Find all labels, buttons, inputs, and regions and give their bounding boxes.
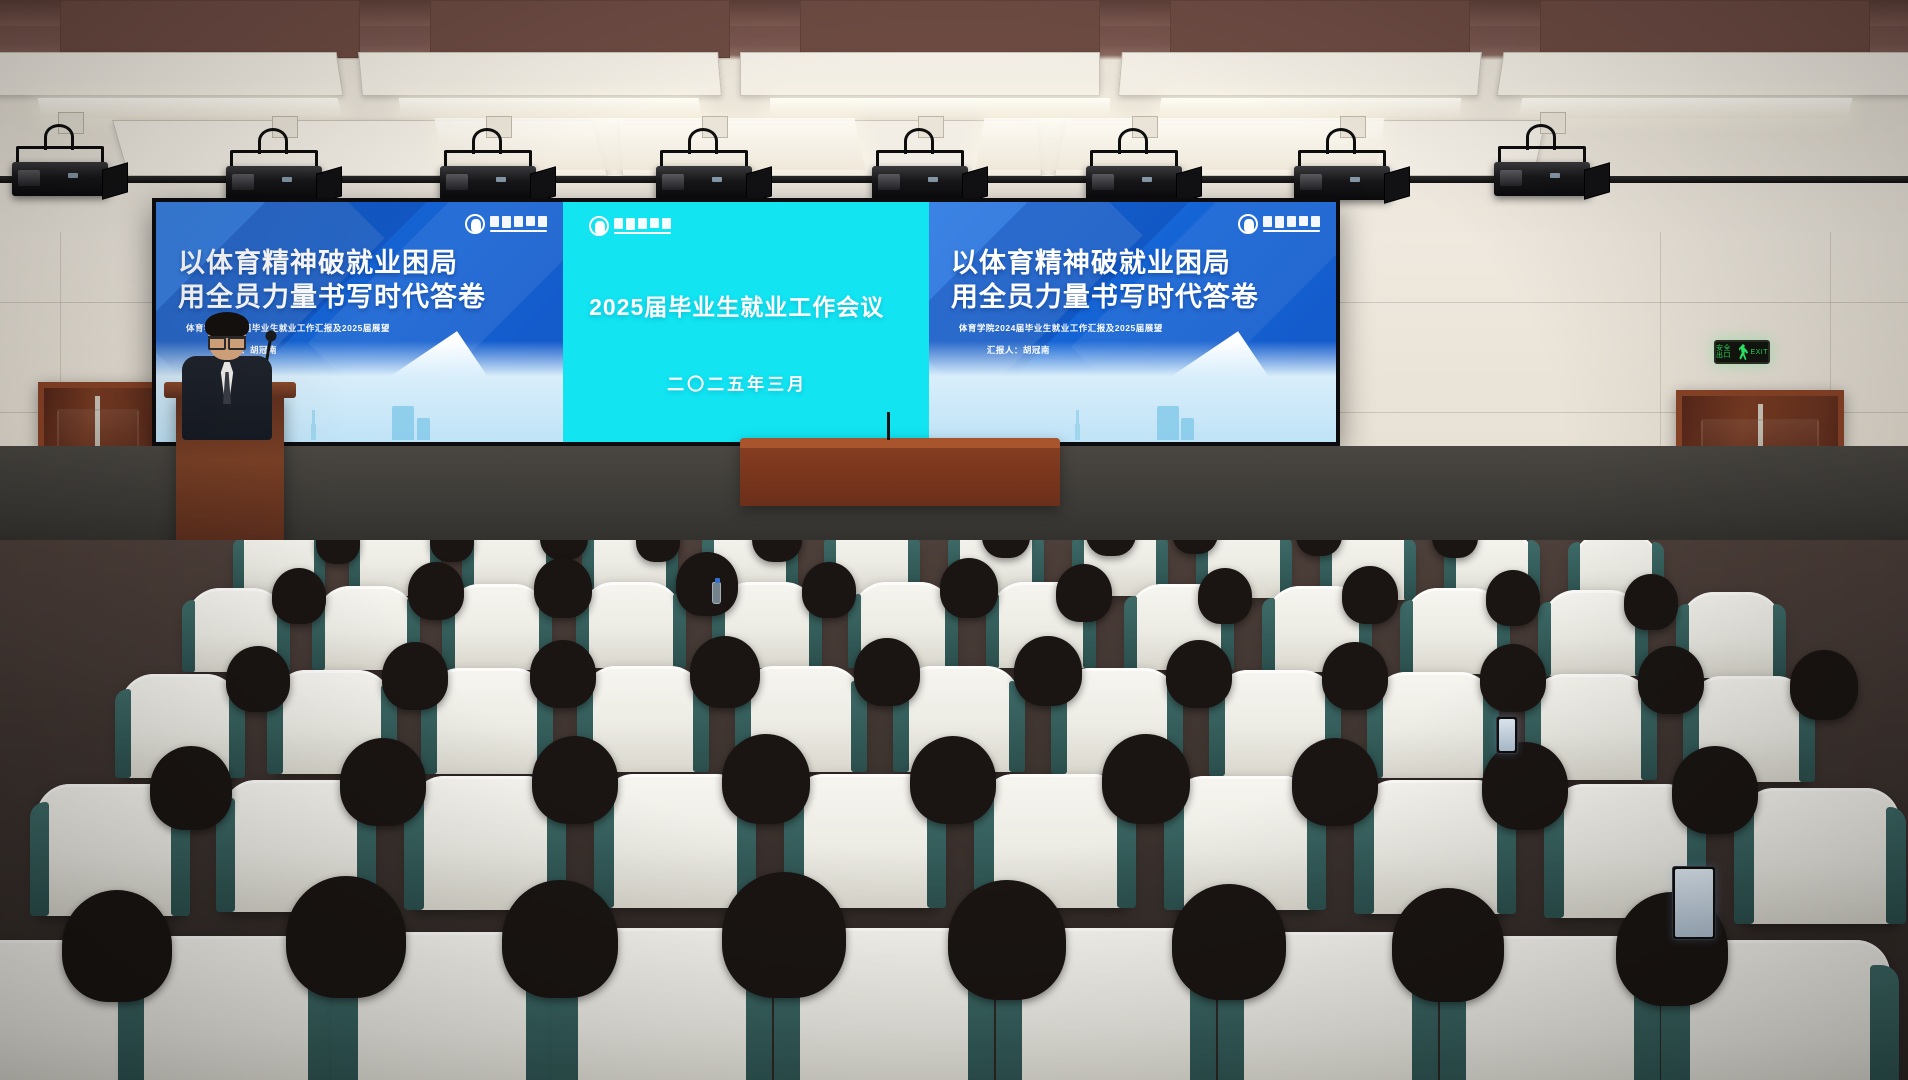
stage-spotlight [1294, 150, 1390, 202]
audience-member [408, 562, 464, 620]
led-right-presenter: 汇报人：胡冠南 [987, 344, 1050, 356]
audience-member [150, 746, 232, 830]
audience-member [316, 540, 360, 564]
stage-spotlight [12, 146, 108, 198]
audience-member [502, 880, 618, 998]
audience-member [340, 738, 426, 826]
audience-member [1624, 574, 1678, 630]
table-microphone [887, 412, 890, 440]
stage-spotlight [440, 150, 536, 202]
audience-seating [0, 540, 1908, 1080]
audience-member [1056, 564, 1112, 622]
audience-member [1392, 888, 1504, 1002]
led-center-panel: 2025届毕业生就业工作会议 二〇二五年三月 [563, 202, 929, 442]
audience-member [286, 876, 406, 998]
audience-member [534, 558, 592, 618]
led-right-title-line1: 以体育精神破就业困局 [951, 248, 1231, 278]
running-man-icon [1739, 344, 1749, 360]
audience-member [1790, 650, 1858, 720]
audience-member [690, 636, 760, 708]
head-table [740, 438, 1060, 506]
audience-member [1322, 642, 1388, 710]
audience-member [272, 568, 326, 624]
seal-icon [465, 214, 485, 234]
stage-spotlight [1494, 146, 1590, 198]
attendee-phone[interactable] [1496, 716, 1518, 754]
auditorium-seat [1372, 672, 1494, 778]
audience-member [948, 880, 1066, 1000]
led-right-title-line2: 用全员力量书写时代答卷 [951, 282, 1259, 312]
audience-member [226, 646, 290, 712]
audience-member [1198, 568, 1252, 624]
stage-spotlight [226, 150, 322, 202]
led-left-title-line1: 以体育精神破就业困局 [178, 248, 458, 278]
audience-member [1172, 884, 1286, 1000]
stage-spotlight [1086, 150, 1182, 202]
led-video-wall: 以体育精神破就业困局 用全员力量书写时代答卷 体育学院2024届毕业生就业工作汇… [152, 198, 1340, 446]
audience-member [1432, 540, 1478, 558]
led-right-panel: 以体育精神破就业困局 用全员力量书写时代答卷 体育学院2024届毕业生就业工作汇… [929, 202, 1336, 442]
audience-member [540, 540, 588, 560]
eyeglasses-icon [208, 336, 246, 344]
stage-spotlight [656, 150, 752, 202]
audience-member [1086, 540, 1136, 556]
audience-member [1482, 742, 1568, 830]
seal-icon [1238, 214, 1258, 234]
water-bottle [712, 582, 721, 604]
audience-member [940, 558, 998, 618]
audience-member [636, 540, 680, 562]
audience-member [62, 890, 172, 1002]
audience-member [1638, 646, 1704, 714]
audience-member [1342, 566, 1398, 624]
university-seal-logo [465, 214, 547, 234]
audience-member [982, 540, 1030, 558]
conference-hall-photo: 安全出口 EXIT [0, 0, 1908, 1080]
audience-member [532, 736, 618, 824]
audience-member [1292, 738, 1378, 826]
audience-member [430, 540, 474, 562]
audience-member [910, 736, 996, 824]
audience-member [1480, 644, 1546, 712]
audience-member [854, 638, 920, 706]
university-seal-logo [589, 216, 671, 236]
audience-member [676, 552, 738, 616]
led-center-title: 2025届毕业生就业工作会议 [589, 288, 884, 322]
seal-icon [589, 216, 609, 236]
exit-sign: 安全出口 EXIT [1714, 340, 1770, 364]
audience-member [1014, 636, 1082, 706]
auditorium-seat [1740, 788, 1900, 924]
audience-member [722, 872, 846, 998]
attendee-phone[interactable] [1672, 866, 1716, 940]
led-left-title-line2: 用全员力量书写时代答卷 [178, 282, 486, 312]
audience-member [382, 642, 448, 710]
university-seal-logo [1238, 214, 1320, 234]
exit-sign-label-cn: 安全出口 [1716, 345, 1737, 359]
stage-spotlight [872, 150, 968, 202]
audience-member [1296, 540, 1342, 556]
led-right-subtitle: 体育学院2024届毕业生就业工作汇报及2025届展望 [959, 322, 1163, 334]
audience-member [1166, 640, 1232, 708]
audience-member [1102, 734, 1190, 824]
audience-member [1486, 570, 1540, 626]
audience-member [802, 562, 856, 618]
led-center-date: 二〇二五年三月 [667, 370, 807, 395]
audience-member [1172, 540, 1218, 554]
presenter-at-podium [180, 316, 272, 436]
audience-member [530, 640, 596, 708]
audience-member [752, 540, 802, 562]
exit-sign-label-en: EXIT [1750, 349, 1768, 356]
audience-member [722, 734, 810, 824]
audience-member [1672, 746, 1758, 834]
